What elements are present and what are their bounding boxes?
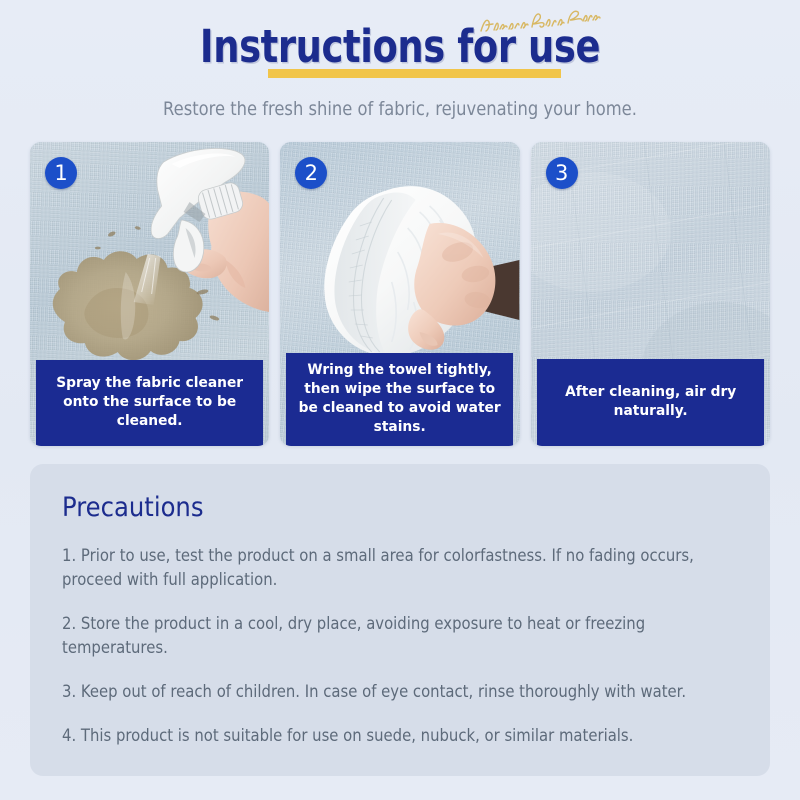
step-card-3[interactable]: 3 After cleaning, air dry naturally. — [531, 142, 770, 446]
step-card-1[interactable]: 1 Spray the fabric cleaner onto the surf… — [30, 142, 269, 446]
step-3-number-badge: 3 — [546, 157, 578, 189]
precaution-item-1: 1. Prior to use, test the product on a s… — [62, 544, 739, 592]
step-1-number-badge: 1 — [45, 157, 77, 189]
title-underline-bar — [268, 69, 561, 78]
step-card-2[interactable]: 2 Wring the towel tightly, then wipe the… — [280, 142, 519, 446]
page-title: Instructions for use — [200, 22, 600, 72]
header: Instructions for use — [0, 0, 800, 135]
step-2-caption: Wring the towel tightly, then wipe the s… — [286, 353, 513, 446]
precaution-item-4: 4. This product is not suitable for use … — [62, 724, 739, 748]
step-1-caption: Spray the fabric cleaner onto the surfac… — [36, 360, 263, 446]
instruction-infographic: Instructions for use — [0, 0, 800, 800]
step-3-caption: After cleaning, air dry naturally. — [537, 359, 764, 446]
precaution-item-3: 3. Keep out of reach of children. In cas… — [62, 680, 739, 704]
page-subtitle: Restore the fresh shine of fabric, rejuv… — [56, 96, 744, 122]
precaution-item-2: 2. Store the product in a cool, dry plac… — [62, 612, 739, 660]
precautions-panel: Precautions 1. Prior to use, test the pr… — [30, 464, 770, 776]
step-card-list: 1 Spray the fabric cleaner onto the surf… — [30, 142, 770, 446]
precautions-title: Precautions — [62, 492, 672, 524]
